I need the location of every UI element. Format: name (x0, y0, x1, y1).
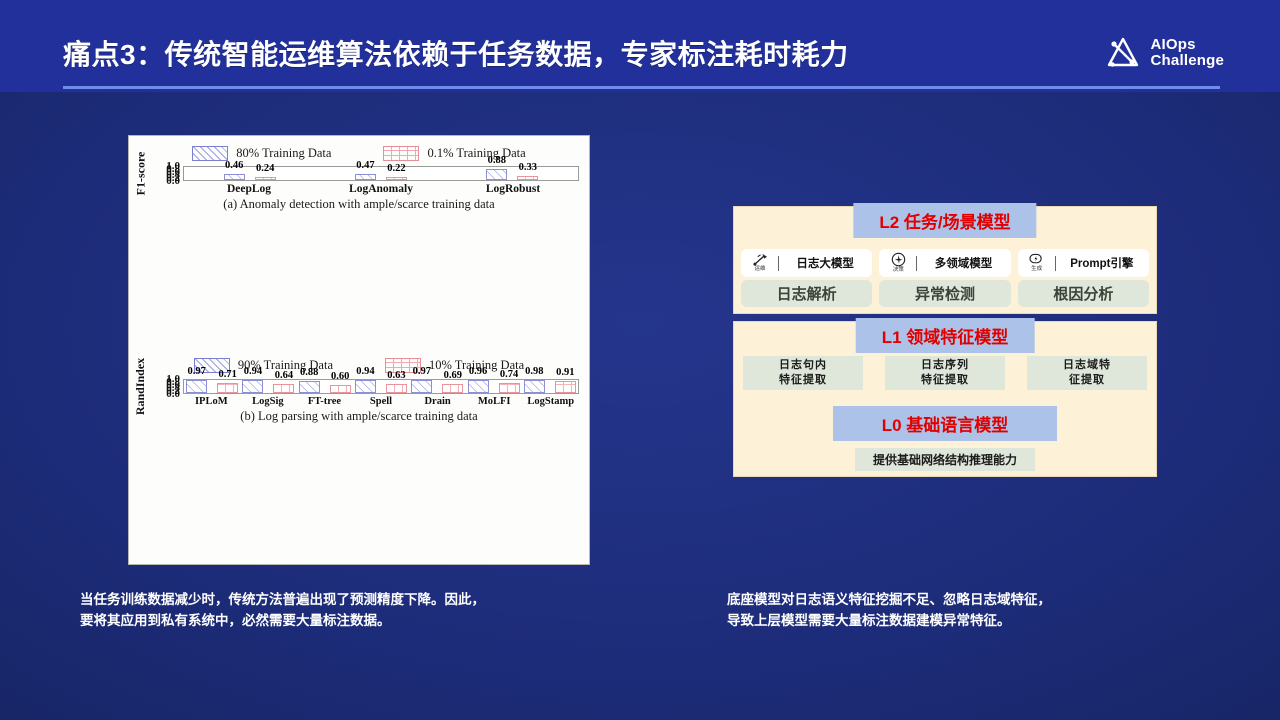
bar-value-label: 0.60 (331, 371, 349, 382)
bar: 0.74 (499, 383, 520, 393)
y-tick: 1.0 (166, 373, 180, 385)
bar-value-label: 0.24 (256, 163, 274, 174)
l1-feature-2: 日志序列特征提取 (885, 356, 1005, 390)
chart-a-ylabel: F1-score (129, 166, 153, 181)
bar: 0.97 (411, 380, 432, 393)
bar-value-label: 0.71 (218, 369, 236, 380)
chart-b-plot-area: 0.970.710.940.640.880.600.940.630.970.69… (183, 379, 579, 394)
l2-task-label[interactable]: 异常检测 (879, 280, 1010, 307)
l2-card-2[interactable]: 决策多领域模型异常检测 (879, 249, 1010, 307)
note-right: 底座模型对日志语义特征挖掘不足、忽略日志域特征， 导致上层模型需要大量标注数据建… (727, 590, 1227, 632)
l2-band-label: L2 任务/场景模型 (853, 203, 1036, 238)
l2-card-label: 多领域模型 (923, 255, 1003, 271)
bar-group: 0.880.60 (299, 380, 351, 393)
bar: 0.98 (524, 380, 545, 393)
y-tick: 1.0 (166, 160, 180, 172)
chart-b-caption: (b) Log parsing with ample/scarce traini… (129, 409, 589, 424)
chart-a-caption: (a) Anomaly detection with ample/scarce … (129, 197, 589, 212)
legend-item: 80% Training Data (192, 146, 331, 161)
bar-group: 0.970.71 (186, 380, 238, 393)
logo-line-1: AIOps (1151, 37, 1224, 53)
l1-feature-3: 日志域特征提取 (1027, 356, 1147, 390)
bar-group: 0.980.91 (524, 380, 576, 393)
page-title: 痛点3：传统智能运维算法依赖于任务数据，专家标注耗时耗力 (63, 33, 849, 73)
l0-band-label: L0 基础语言模型 (833, 406, 1057, 441)
model-stack-diagram: L2 任务/场景模型 运维日志大模型日志解析决策多领域模型异常检测生成Promp… (733, 206, 1157, 493)
x-tick-label: LogRobust (447, 183, 579, 195)
l2-task-label[interactable]: 日志解析 (741, 280, 872, 307)
l2-card-1[interactable]: 运维日志大模型日志解析 (741, 249, 872, 307)
l2-card-header[interactable]: 生成Prompt引擎 (1018, 249, 1149, 277)
l0-capability-label: 提供基础网络结构推理能力 (855, 448, 1035, 471)
bar: 0.88 (299, 381, 320, 392)
icon-caption: 运维 (754, 267, 765, 273)
bar-group: 0.960.74 (468, 380, 520, 393)
plane-decision-icon: 决策 (886, 252, 910, 274)
bar-value-label: 0.97 (413, 366, 431, 377)
logo-line-2: Challenge (1151, 53, 1224, 69)
legend-swatch-blue (192, 146, 228, 161)
bar: 0.63 (386, 384, 407, 392)
bar: 0.24 (255, 177, 276, 180)
bar-value-label: 0.98 (525, 366, 543, 377)
bar: 0.94 (355, 380, 376, 392)
note-left: 当任务训练数据减少时，传统方法普遍出现了预测精度下降。因此， 要将其应用到私有系… (80, 590, 660, 632)
bar: 0.97 (186, 380, 207, 393)
bar-value-label: 0.46 (225, 160, 243, 171)
layer-l0: L0 基础语言模型 提供基础网络结构推理能力 (743, 402, 1147, 471)
l1-band-label: L1 领域特征模型 (856, 318, 1035, 353)
chart-b-yticks: 0.00.20.40.60.81.0 (153, 379, 183, 394)
layer-l2: L2 任务/场景模型 运维日志大模型日志解析决策多领域模型异常检测生成Promp… (733, 206, 1157, 314)
x-tick-label: LogAnomaly (315, 183, 447, 195)
bar-value-label: 0.64 (275, 370, 293, 381)
bar: 0.94 (242, 380, 263, 392)
bar-value-label: 0.22 (387, 163, 405, 174)
bar: 0.60 (330, 385, 351, 393)
bar: 0.47 (355, 174, 376, 180)
bar-value-label: 0.88 (488, 155, 506, 166)
x-tick-label: DeepLog (183, 183, 315, 195)
bar-value-label: 0.69 (444, 370, 462, 381)
l2-card-3[interactable]: 生成Prompt引擎根因分析 (1018, 249, 1149, 307)
bar-group: 0.470.22 (355, 167, 407, 180)
bar: 0.69 (442, 384, 463, 393)
l1-feature-1: 日志句内特征提取 (743, 356, 863, 390)
bar: 0.33 (517, 176, 538, 180)
x-tick-label: MoLFI (466, 396, 523, 407)
wrench-ops-icon: 运维 (748, 253, 772, 273)
bar-group: 0.970.69 (411, 380, 463, 393)
bar-value-label: 0.91 (556, 367, 574, 378)
bar-value-label: 0.97 (187, 366, 205, 377)
chart-b-xaxis: IPLoMLogSigFT-treeSpellDrainMoLFILogStam… (129, 396, 579, 407)
divider (1055, 256, 1056, 271)
bar-group: 0.880.33 (486, 167, 538, 180)
bar: 0.91 (555, 381, 576, 393)
bar-value-label: 0.94 (244, 366, 262, 377)
bar-group: 0.460.24 (224, 167, 276, 180)
bar: 0.96 (468, 380, 489, 392)
aiops-triangle-graph-icon (1104, 35, 1144, 71)
bar-group: 0.940.63 (355, 380, 407, 393)
icon-caption: 生成 (1031, 267, 1042, 273)
l2-card-label: Prompt引擎 (1062, 255, 1142, 271)
bar: 0.22 (386, 177, 407, 180)
slide-header: 痛点3：传统智能运维算法依赖于任务数据，专家标注耗时耗力 AIOps Chall… (0, 0, 1280, 92)
x-tick-label: LogStamp (522, 396, 579, 407)
x-tick-label: Spell (353, 396, 410, 407)
l2-card-label: 日志大模型 (785, 255, 865, 271)
chart-b-ylabel: RandIndex (129, 379, 153, 394)
bar: 0.88 (486, 169, 507, 180)
chart-panel: 80% Training Data 0.1% Training Data F1-… (128, 135, 590, 565)
bolt-generate-icon: 生成 (1025, 253, 1049, 273)
bar-value-label: 0.94 (356, 366, 374, 377)
bar-group: 0.940.64 (242, 380, 294, 393)
chart-anomaly-detection: 80% Training Data 0.1% Training Data F1-… (129, 136, 589, 349)
bar-value-label: 0.88 (300, 367, 318, 378)
bar-value-label: 0.96 (469, 366, 487, 377)
legend-swatch-red (383, 146, 419, 161)
layer-l1: L1 领域特征模型 日志句内特征提取日志序列特征提取日志域特征提取 L0 基础语… (733, 321, 1157, 477)
logo-wordmark: AIOps Challenge (1151, 37, 1224, 69)
l2-card-header[interactable]: 运维日志大模型 (741, 249, 872, 277)
x-tick-label: FT-tree (296, 396, 353, 407)
aiops-challenge-logo: AIOps Challenge (1104, 35, 1224, 71)
l2-task-label[interactable]: 根因分析 (1018, 280, 1149, 307)
bar-value-label: 0.63 (387, 370, 405, 381)
chart-log-parsing: 90% Training Data 10% Training Data Rand… (129, 349, 589, 565)
bar: 0.71 (217, 383, 238, 392)
chart-a-plot-area: 0.460.240.470.220.880.33 (183, 166, 579, 181)
divider (916, 256, 917, 271)
icon-caption: 决策 (893, 268, 904, 274)
l2-card-header[interactable]: 决策多领域模型 (879, 249, 1010, 277)
chart-a-yticks: 0.00.20.40.60.81.0 (153, 166, 183, 181)
bar-value-label: 0.33 (519, 162, 537, 173)
x-tick-label: LogSig (240, 396, 297, 407)
legend-label: 0.1% Training Data (427, 146, 525, 161)
title-divider (63, 86, 1220, 89)
bar-value-label: 0.47 (356, 160, 374, 171)
legend-label: 80% Training Data (236, 146, 331, 161)
slide-root: 痛点3：传统智能运维算法依赖于任务数据，专家标注耗时耗力 AIOps Chall… (0, 0, 1280, 720)
x-tick-label: IPLoM (183, 396, 240, 407)
chart-a-xaxis: DeepLogLogAnomalyLogRobust (129, 183, 579, 195)
divider (778, 256, 779, 271)
bar: 0.64 (273, 384, 294, 392)
bar-value-label: 0.74 (500, 369, 518, 380)
bar: 0.46 (224, 174, 245, 180)
x-tick-label: Drain (409, 396, 466, 407)
